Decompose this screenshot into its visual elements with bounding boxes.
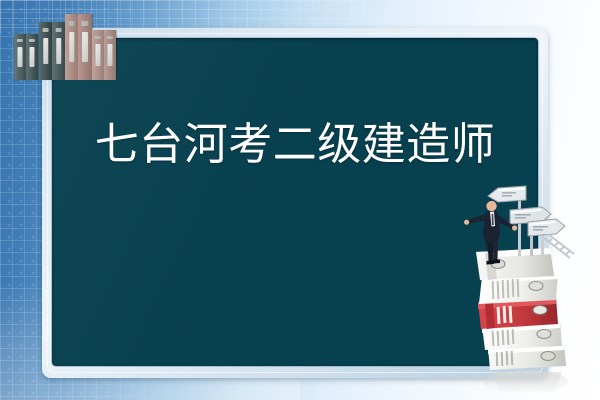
businessman-right-hand: [512, 225, 517, 230]
businessman-left-arm: [467, 214, 486, 224]
binder-sheen: [104, 30, 116, 80]
binder-sheen: [26, 34, 38, 80]
businessman-shoe-left: [487, 261, 495, 265]
binder-sheen: [92, 30, 104, 80]
businessman-on-binder-stack-illustration: [452, 176, 600, 400]
signpost-arrow-3: [528, 219, 565, 236]
binder-1: [14, 34, 26, 80]
businessman-shoe-right: [493, 260, 500, 264]
binder-sheen: [39, 22, 52, 80]
businessman-left-hand: [464, 220, 469, 225]
binder-4: [52, 22, 65, 80]
binder-7: [92, 30, 104, 80]
businessman-leg-left: [488, 242, 493, 263]
stack-reflection: [484, 370, 568, 394]
binder-sheen: [65, 14, 78, 80]
binder-2: [26, 34, 38, 80]
page-title-text: 七台河考二级建造师: [86, 116, 504, 174]
binder-sheen: [14, 34, 26, 80]
binder-sheen: [78, 14, 92, 80]
binder-6: [78, 14, 92, 80]
binder-3: [39, 22, 52, 80]
binder-8: [104, 30, 116, 80]
poster-canvas: 七台河考二级建造师: [0, 0, 600, 400]
signpost-arrow-1: [488, 186, 526, 202]
binder-row-decoration: [14, 0, 114, 80]
signpost-pole-1: [518, 198, 521, 256]
binder-sheen: [52, 22, 65, 80]
businessman-leg-right: [493, 242, 498, 262]
page-title: 七台河考二级建造师: [52, 116, 538, 174]
binder-5: [65, 14, 78, 80]
